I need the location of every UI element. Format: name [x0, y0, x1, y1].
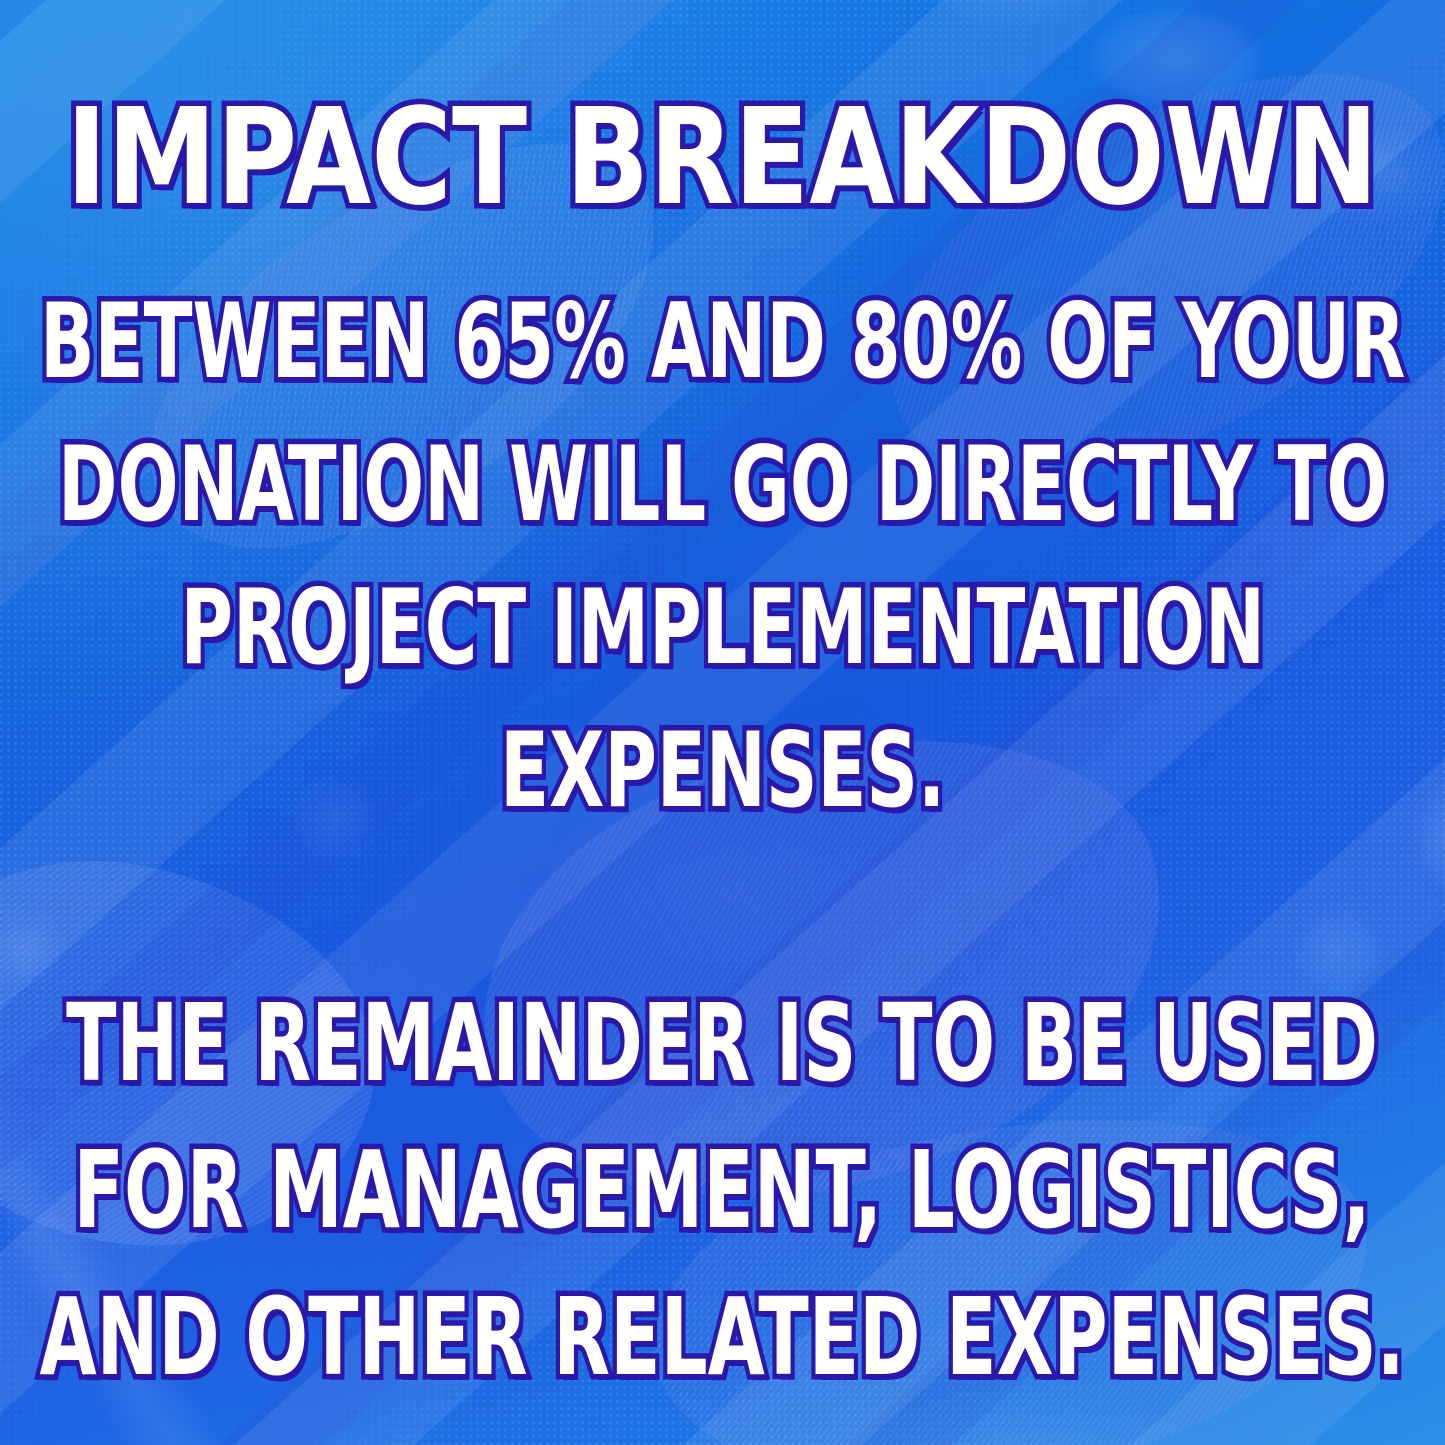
paragraph-line: DONATION WILL GO DIRECTLY TO	[40, 434, 1405, 537]
page-title: IMPACT BREAKDOWN	[66, 92, 1378, 225]
impact-paragraph-secondary: THE REMAINDER IS TO BE USED FOR MANAGEME…	[0, 991, 1445, 1392]
paragraph-line: FOR MANAGEMENT, LOGISTICS,	[40, 1138, 1405, 1245]
paragraph-line: THE REMAINDER IS TO BE USED	[40, 991, 1405, 1098]
paragraph-line: PROJECT IMPLEMENTATION	[40, 577, 1405, 680]
impact-breakdown-poster: IMPACT BREAKDOWN BETWEEN 65% AND 80% OF …	[0, 0, 1445, 1445]
poster-content: IMPACT BREAKDOWN BETWEEN 65% AND 80% OF …	[0, 0, 1445, 1445]
impact-paragraph-primary: BETWEEN 65% AND 80% OF YOUR DONATION WIL…	[0, 291, 1445, 823]
paragraph-line: EXPENSES.	[40, 720, 1405, 823]
paragraph-line: AND OTHER RELATED EXPENSES.	[40, 1285, 1405, 1392]
paragraph-line: BETWEEN 65% AND 80% OF YOUR	[40, 291, 1405, 394]
